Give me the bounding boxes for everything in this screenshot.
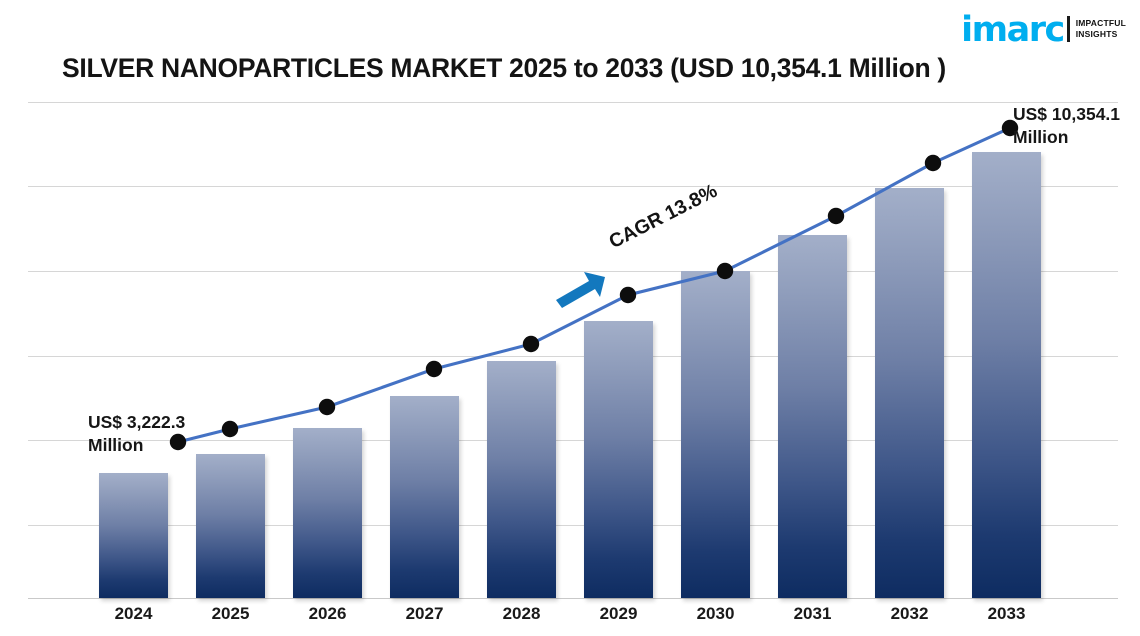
x-axis-label-2033: 2033 — [972, 604, 1041, 624]
gridline — [28, 186, 1118, 187]
gridline — [28, 356, 1118, 357]
gridline — [28, 525, 1118, 526]
x-axis-label-2032: 2032 — [875, 604, 944, 624]
x-axis-label-2028: 2028 — [487, 604, 556, 624]
gridline — [28, 102, 1118, 103]
cagr-label: CAGR 13.8% — [606, 180, 722, 254]
x-axis-label-2025: 2025 — [196, 604, 265, 624]
bar-2029[interactable] — [584, 321, 653, 598]
bar-2025[interactable] — [196, 454, 265, 598]
x-axis-label-2027: 2027 — [390, 604, 459, 624]
chart-page: imarc Impactful Insights SILVER NANOPART… — [0, 0, 1140, 636]
bar-2024[interactable] — [99, 473, 168, 598]
trend-marker-2029[interactable] — [620, 287, 636, 303]
trend-line-group — [0, 0, 1140, 636]
x-axis-line — [28, 598, 1118, 599]
trend-marker-2028[interactable] — [523, 336, 539, 352]
trend-marker-2025[interactable] — [222, 421, 238, 437]
plot-area: US$ 3,222.3 Million US$ 10,354.1 Million… — [0, 0, 1140, 636]
bar-2031[interactable] — [778, 235, 847, 598]
x-axis-label-2030: 2030 — [681, 604, 750, 624]
trend-marker-2031[interactable] — [828, 208, 844, 224]
bar-2027[interactable] — [390, 396, 459, 598]
end-value-callout: US$ 10,354.1 Million — [1013, 103, 1120, 150]
bar-2028[interactable] — [487, 361, 556, 598]
gridline — [28, 440, 1118, 441]
gridline — [28, 271, 1118, 272]
cagr-arrow-icon — [556, 272, 605, 308]
x-axis-label-2029: 2029 — [584, 604, 653, 624]
x-axis-label-2024: 2024 — [99, 604, 168, 624]
start-value-callout: US$ 3,222.3 Million — [88, 411, 185, 458]
x-axis-label-2026: 2026 — [293, 604, 362, 624]
bar-2033[interactable] — [972, 152, 1041, 598]
trend-marker-2026[interactable] — [319, 399, 335, 415]
bar-2032[interactable] — [875, 188, 944, 598]
trend-marker-2032[interactable] — [925, 155, 941, 171]
bar-2030[interactable] — [681, 271, 750, 598]
trend-marker-2027[interactable] — [426, 361, 442, 377]
x-axis-label-2031: 2031 — [778, 604, 847, 624]
bar-2026[interactable] — [293, 428, 362, 598]
